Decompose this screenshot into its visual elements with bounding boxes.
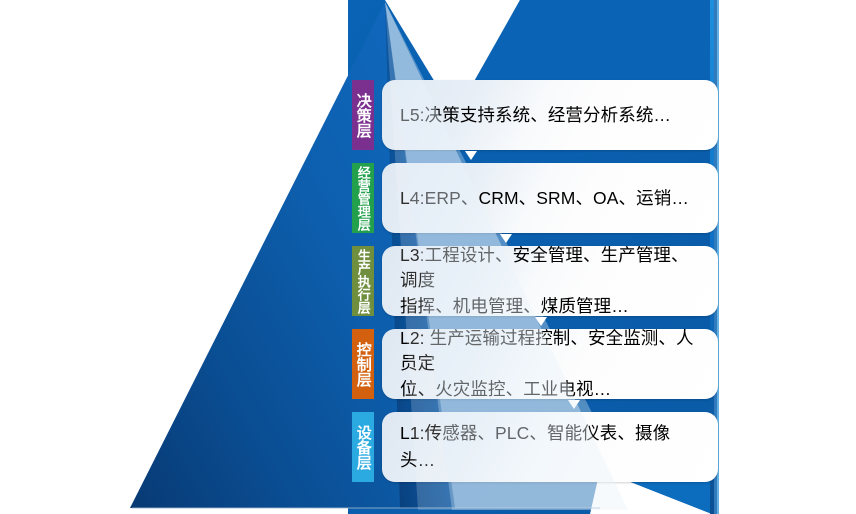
- level-tab-L2: 控制层: [352, 329, 374, 399]
- level-rows: 决策层 L5:决策支持系统、经营分析系统… 经营管理层 L4:ERP、CRM、S…: [0, 0, 856, 514]
- level-card-text-L3: L3:工程设计、安全管理、生产管理、调度 指挥、机电管理、煤质管理…: [400, 246, 704, 316]
- level-tab-label-L2: 控制层: [355, 342, 371, 387]
- level-card-text-L4: L4:ERP、CRM、SRM、OA、运销…: [400, 185, 689, 212]
- level-tab-label-L4: 经营管理层: [356, 166, 370, 231]
- level-tab-L5: 决策层: [352, 80, 374, 150]
- level-card-L1[interactable]: L1:传感器、PLC、智能仪表、摄像头…: [382, 412, 718, 482]
- gap-arrow-L3: [535, 317, 547, 326]
- level-card-line-L2-1: L2: 生产运输过程控制、安全监测、人员定: [400, 329, 694, 373]
- level-tab-label-L5: 决策层: [355, 93, 371, 138]
- level-tab-L4: 经营管理层: [352, 163, 374, 233]
- level-card-text-L5: L5:决策支持系统、经营分析系统…: [400, 102, 671, 129]
- level-card-line-L2-2: 位、火灾监控、工业电视…: [400, 379, 611, 399]
- gap-arrow-L5: [465, 151, 477, 160]
- level-card-L4[interactable]: L4:ERP、CRM、SRM、OA、运销…: [382, 163, 718, 233]
- pyramid-diagram: 决策层 L5:决策支持系统、经营分析系统… 经营管理层 L4:ERP、CRM、S…: [0, 0, 856, 514]
- level-card-L2[interactable]: L2: 生产运输过程控制、安全监测、人员定 位、火灾监控、工业电视…: [382, 329, 718, 399]
- level-card-text-L2: L2: 生产运输过程控制、安全监测、人员定 位、火灾监控、工业电视…: [400, 329, 704, 399]
- level-card-text-L1: L1:传感器、PLC、智能仪表、摄像头…: [400, 420, 704, 473]
- level-tab-L3: 生产执行层: [352, 246, 374, 316]
- level-tab-label-L1: 设备层: [355, 425, 371, 470]
- level-card-L3[interactable]: L3:工程设计、安全管理、生产管理、调度 指挥、机电管理、煤质管理…: [382, 246, 718, 316]
- level-tab-L1: 设备层: [352, 412, 374, 482]
- level-row-L5[interactable]: 决策层 L5:决策支持系统、经营分析系统…: [352, 80, 718, 150]
- level-card-L5[interactable]: L5:决策支持系统、经营分析系统…: [382, 80, 718, 150]
- level-row-L3[interactable]: 生产执行层 L3:工程设计、安全管理、生产管理、调度 指挥、机电管理、煤质管理…: [352, 246, 718, 316]
- level-row-L4[interactable]: 经营管理层 L4:ERP、CRM、SRM、OA、运销…: [352, 163, 718, 233]
- gap-arrow-L4: [500, 234, 512, 243]
- gap-arrow-L2: [568, 400, 580, 409]
- level-card-line-L3-2: 指挥、机电管理、煤质管理…: [400, 296, 629, 316]
- level-row-L1[interactable]: 设备层 L1:传感器、PLC、智能仪表、摄像头…: [352, 412, 718, 482]
- level-card-line-L3-1: L3:工程设计、安全管理、生产管理、调度: [400, 246, 689, 290]
- level-row-L2[interactable]: 控制层 L2: 生产运输过程控制、安全监测、人员定 位、火灾监控、工业电视…: [352, 329, 718, 399]
- level-tab-label-L3: 生产执行层: [356, 249, 370, 314]
